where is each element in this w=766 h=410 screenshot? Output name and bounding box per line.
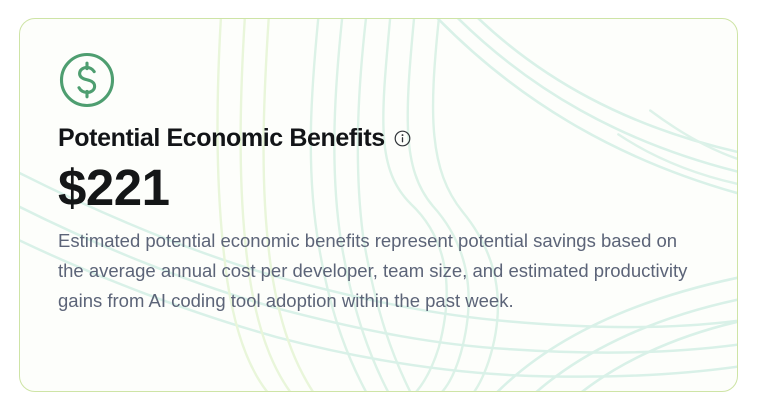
screenshot-stage: Potential Economic Benefits $221 Estimat… — [0, 0, 766, 410]
metric-description: Estimated potential economic benefits re… — [58, 226, 701, 316]
card-title: Potential Economic Benefits — [58, 125, 385, 153]
card-content: Potential Economic Benefits $221 Estimat… — [20, 19, 737, 316]
metric-value: $221 — [58, 159, 701, 216]
card-title-row: Potential Economic Benefits — [58, 125, 701, 153]
potential-economic-benefits-card: Potential Economic Benefits $221 Estimat… — [19, 18, 738, 392]
info-icon[interactable] — [394, 130, 411, 147]
dollar-circle-icon — [58, 51, 116, 109]
